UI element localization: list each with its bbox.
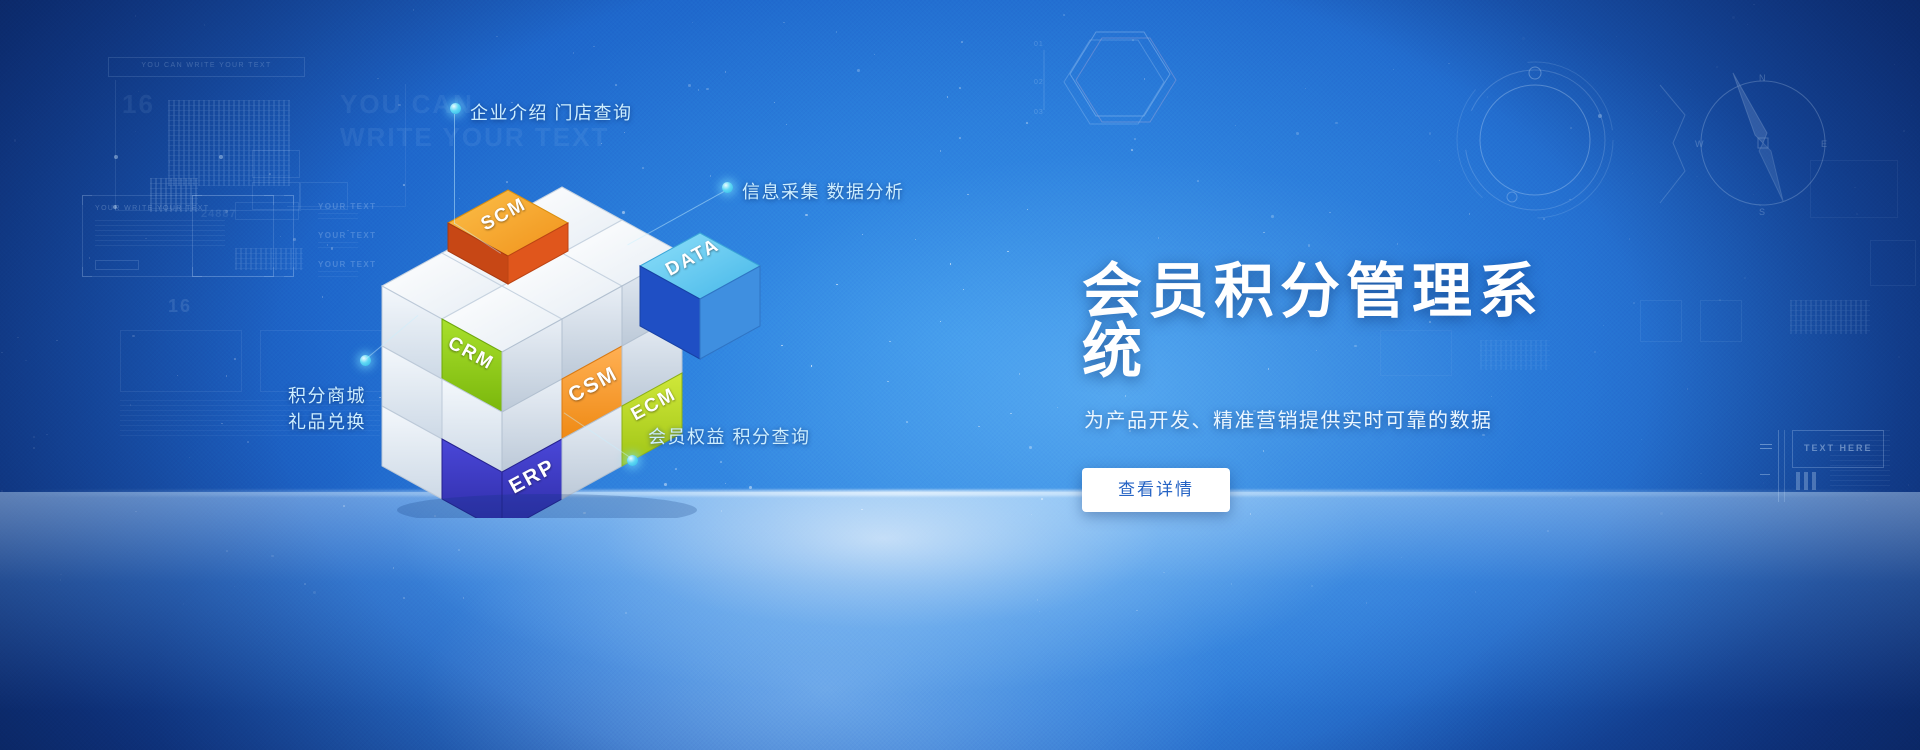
page-subtitle: 为产品开发、精准营销提供实时可靠的数据 bbox=[1084, 404, 1602, 433]
callout-enterprise-label: 企业介绍 门店查询 bbox=[470, 99, 633, 125]
callout-enterprise-dot bbox=[450, 103, 461, 114]
callout-member-label: 会员权益 积分查询 bbox=[648, 423, 811, 449]
hero-banner: YOU CAN WRITE YOUR TEXT 16 YOU CAN WRITE… bbox=[0, 0, 1920, 750]
callout-points-mall-line2: 礼品兑换 bbox=[288, 412, 366, 432]
callout-points-mall-line1: 积分商城 bbox=[288, 386, 366, 406]
view-details-button[interactable]: 查看详情 bbox=[1082, 468, 1230, 512]
hero-copy: 会员积分管理系统 为产品开发、精准营销提供实时可靠的数据 查看详情 bbox=[1082, 262, 1602, 512]
page-title: 会员积分管理系统 bbox=[1082, 262, 1602, 382]
callout-data-label: 信息采集 数据分析 bbox=[742, 178, 905, 204]
callout-points-mall-label: 积分商城 礼品兑换 bbox=[288, 383, 366, 435]
callout-layer: 企业介绍 门店查询 信息采集 数据分析 积分商城 礼品兑换 会员权益 积分查询 bbox=[0, 0, 1920, 750]
